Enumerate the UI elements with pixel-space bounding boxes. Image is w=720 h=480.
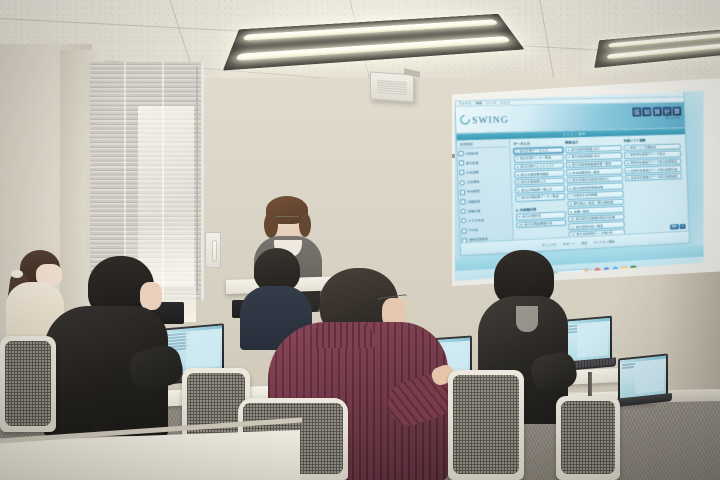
sidebar-item-label: 年末調整 bbox=[467, 189, 480, 194]
laptop-screen[interactable] bbox=[620, 356, 666, 399]
column-header: 年調ソフト連動 bbox=[623, 136, 680, 143]
sidebar-item-label: 賞与処理 bbox=[466, 161, 479, 166]
footer-manual[interactable]: マニュアル bbox=[541, 242, 557, 247]
chair-left-1[interactable] bbox=[0, 336, 56, 432]
exit-button[interactable]: E bbox=[680, 224, 686, 229]
glasses-icon bbox=[275, 216, 299, 222]
menu-button[interactable]: 10. 給与計算結果集計表 bbox=[516, 219, 566, 228]
app-main-panel: データ入力 1. 給与計算データ入力 2. 給与計算データ一覧表 3. 給与計算… bbox=[510, 134, 689, 247]
screen-panel bbox=[186, 330, 220, 370]
brand-badges: 医 給 算 計 算 bbox=[633, 107, 682, 117]
chair-mesh bbox=[561, 401, 615, 474]
screen-panel bbox=[635, 360, 664, 394]
attendee-collar bbox=[516, 306, 538, 332]
brand-badge: 医 bbox=[633, 107, 642, 116]
menu-tools[interactable]: ツール bbox=[486, 101, 496, 105]
circle-icon bbox=[461, 209, 467, 214]
sidebar-item-label: 退職計算 bbox=[468, 209, 481, 214]
chart-icon bbox=[459, 161, 465, 166]
footer-right-buttons[interactable]: 連動 E bbox=[670, 224, 686, 230]
menu-file[interactable]: ファイル bbox=[458, 101, 471, 105]
menu-button[interactable]: 2. 給与計算データ一覧表 bbox=[514, 154, 564, 162]
light-switch-plate[interactable] bbox=[205, 232, 221, 268]
attendee-black-suit bbox=[44, 256, 168, 442]
chair-mesh bbox=[5, 341, 51, 426]
brand-badge: 給 bbox=[643, 107, 652, 116]
app-sidebar[interactable]: 処理項目 月例処理 賞与処理 年末調整 bbox=[457, 139, 514, 250]
blind-cord[interactable] bbox=[196, 66, 198, 292]
clip-icon bbox=[460, 199, 466, 204]
attendee-ear bbox=[140, 282, 162, 310]
tab-menu-select[interactable]: メ ニ ュ ー 選 択 bbox=[563, 132, 586, 137]
sidebar-item-label: 労働保険 bbox=[467, 199, 480, 204]
brand-badge: 計 bbox=[662, 107, 671, 116]
brand-badge: 算 bbox=[653, 107, 662, 116]
light-switch-rocker[interactable] bbox=[212, 240, 217, 262]
presenter-hair-side bbox=[299, 213, 311, 237]
sidebar-item-label: その他 bbox=[468, 228, 478, 233]
sweater-collar bbox=[310, 322, 376, 348]
shield-icon bbox=[459, 180, 465, 185]
brand-subtitle: My SWING bbox=[666, 116, 681, 119]
wall-speaker bbox=[370, 71, 414, 102]
brand-badge: 算 bbox=[672, 107, 681, 116]
gear-icon bbox=[461, 218, 467, 223]
column-report-output: 帳票出力 1. 給与支給明細書 出力 2. 賞与支給明細書 出力 3. 賞与支給… bbox=[565, 138, 625, 244]
chair-right-front[interactable] bbox=[556, 396, 620, 480]
sidebar-item-label: マスタ作成 bbox=[468, 218, 484, 223]
laptop-right-front[interactable] bbox=[616, 356, 672, 408]
column-data-input: データ入力 1. 給与計算データ入力 2. 給与計算データ一覧表 3. 給与計算… bbox=[513, 140, 567, 247]
sidebar-item-label: 年末調整 bbox=[466, 170, 479, 175]
swing-logo-icon bbox=[458, 113, 472, 126]
hair-tie bbox=[11, 270, 23, 278]
swing-application-window[interactable]: SWING システム ファイル 編集 ツール ヘルプ SWING 医 給 bbox=[455, 91, 690, 257]
sidebar-item-label: 社会保険 bbox=[466, 180, 479, 185]
seminar-room-photo: SWING システム ファイル 編集 ツール ヘルプ SWING 医 給 bbox=[0, 0, 720, 480]
menu-button[interactable]: 5. 控除申告書電子データ取込結果更新 bbox=[625, 173, 682, 182]
doc-icon bbox=[459, 170, 465, 175]
footer-settings[interactable]: 設定 bbox=[581, 240, 587, 244]
link-button[interactable]: 連動 bbox=[670, 224, 679, 230]
column-header: 帳票出力 bbox=[565, 138, 622, 145]
menu-edit[interactable]: 編集 bbox=[476, 101, 483, 105]
chair-right[interactable] bbox=[448, 370, 524, 480]
sidebar-item-label: 月例処理 bbox=[465, 151, 478, 156]
menu-help[interactable]: ヘルプ bbox=[500, 101, 510, 105]
swing-logo-text: SWING bbox=[472, 114, 509, 125]
speaker-grill bbox=[377, 80, 407, 96]
screen-panel bbox=[577, 322, 608, 358]
column-header: データ入力 bbox=[513, 140, 563, 147]
folder-icon bbox=[460, 189, 466, 194]
chair-mesh bbox=[453, 375, 519, 474]
footer-version[interactable]: バージョン情報 bbox=[593, 239, 614, 244]
screen-row bbox=[622, 366, 634, 369]
calendar-icon bbox=[458, 151, 464, 156]
box-icon bbox=[461, 228, 467, 234]
footer-support[interactable]: サポート bbox=[563, 241, 575, 246]
